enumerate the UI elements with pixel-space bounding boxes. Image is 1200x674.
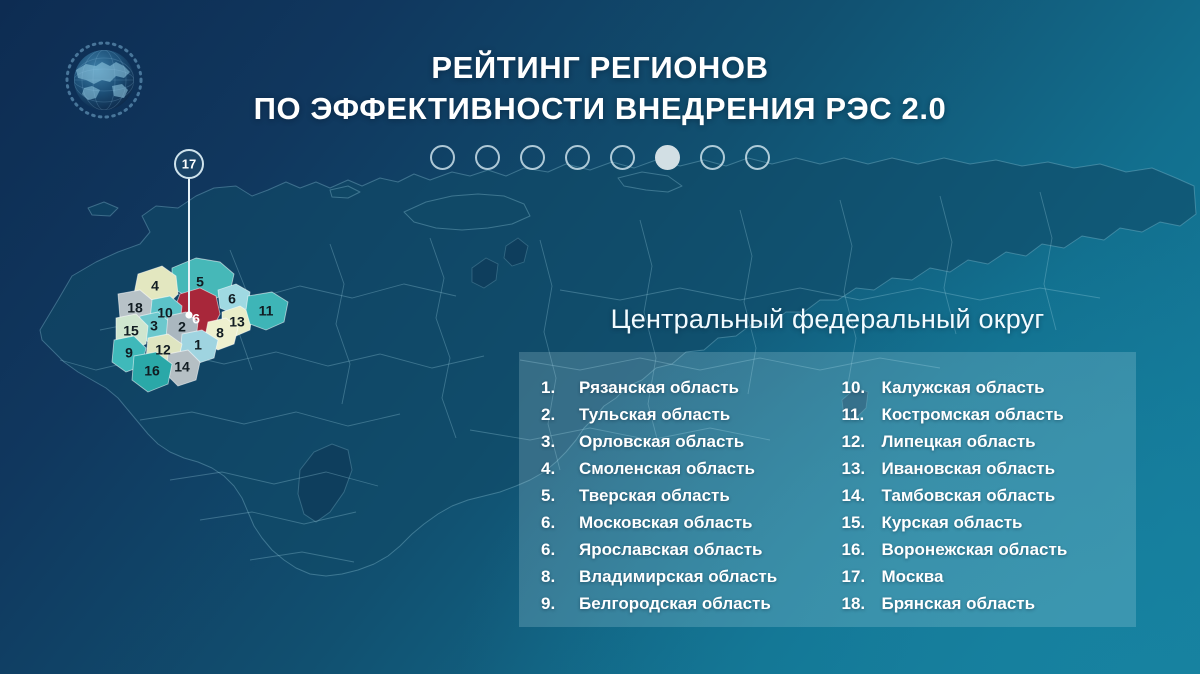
region-shape-6-moscow-oblast <box>174 288 220 336</box>
list-item-name: Брянская область <box>882 590 1036 617</box>
list-item: 11.Костромская область <box>842 401 1137 428</box>
region-label-5: 5 <box>196 274 204 290</box>
list-item-number: 12. <box>842 428 882 455</box>
region-label-3: 3 <box>150 318 158 334</box>
list-item-name: Калужская область <box>882 374 1045 401</box>
list-item-number: 10. <box>842 374 882 401</box>
list-item: 5.Тверская область <box>541 482 828 509</box>
region-label-11: 11 <box>259 303 274 319</box>
list-item-name: Костромская область <box>882 401 1064 428</box>
region-label-14: 14 <box>174 359 190 375</box>
list-item: 2.Тульская область <box>541 401 828 428</box>
region-shape-1 <box>180 330 218 364</box>
list-item-number: 8. <box>541 563 579 590</box>
region-label-4: 4 <box>151 278 159 294</box>
region-shape-10 <box>150 296 182 330</box>
list-item: 18.Брянская область <box>842 590 1137 617</box>
region-shape-12 <box>146 334 182 368</box>
list-item-number: 6. <box>541 509 579 536</box>
list-item-number: 1. <box>541 374 579 401</box>
list-item: 8.Владимирская область <box>541 563 828 590</box>
regions-list-column-left: 1.Рязанская область2.Тульская область3.О… <box>519 374 828 627</box>
page-title-line-2: ПО ЭФФЕКТИВНОСТИ ВНЕДРЕНИЯ РЭС 2.0 <box>0 89 1200 130</box>
region-label-16: 16 <box>144 363 160 379</box>
pager-dot-2[interactable] <box>475 145 500 170</box>
pager-dot-7[interactable] <box>700 145 725 170</box>
pager-dot-3[interactable] <box>520 145 545 170</box>
slide-pager[interactable] <box>0 145 1200 170</box>
region-shape-2 <box>166 312 198 346</box>
list-item: 6.Московская область <box>541 509 828 536</box>
region-shape-16 <box>132 352 172 392</box>
okrug-title: Центральный федеральный округ <box>519 304 1136 335</box>
region-shape-3 <box>138 312 170 344</box>
region-label-1: 1 <box>194 337 202 353</box>
region-shape-6-yaroslavl <box>218 284 250 314</box>
list-item: 15.Курская область <box>842 509 1137 536</box>
list-item-number: 2. <box>541 401 579 428</box>
region-label-8: 8 <box>216 325 224 341</box>
pager-dot-6[interactable] <box>655 145 680 170</box>
list-item-number: 9. <box>541 590 579 617</box>
list-item: 13.Ивановская область <box>842 455 1137 482</box>
list-item: 3.Орловская область <box>541 428 828 455</box>
list-item: 4.Смоленская область <box>541 455 828 482</box>
pager-dot-8[interactable] <box>745 145 770 170</box>
pager-dot-1[interactable] <box>430 145 455 170</box>
caspian-sea <box>298 444 352 522</box>
list-item-name: Московская область <box>579 509 752 536</box>
list-item-name: Смоленская область <box>579 455 755 482</box>
cfo-region-numbers: 5 4 6 6 13 11 8 10 18 3 2 1 15 12 9 14 1… <box>123 274 273 379</box>
list-item-name: Орловская область <box>579 428 744 455</box>
list-item-name: Тамбовская область <box>882 482 1056 509</box>
region-label-15: 15 <box>123 323 139 339</box>
page-title-line-1: РЕЙТИНГ РЕГИОНОВ <box>0 48 1200 89</box>
list-item-name: Ярославская область <box>579 536 763 563</box>
list-item-number: 4. <box>541 455 579 482</box>
list-item-number: 5. <box>541 482 579 509</box>
pager-dot-5[interactable] <box>610 145 635 170</box>
list-item-name: Москва <box>882 563 944 590</box>
regions-list-column-right: 10.Калужская область11.Костромская облас… <box>828 374 1137 627</box>
region-label-12: 12 <box>155 342 171 358</box>
lake-onega <box>504 238 528 266</box>
list-item-name: Рязанская область <box>579 374 739 401</box>
region-shape-13 <box>222 306 252 336</box>
island-north-1 <box>330 186 360 198</box>
list-item: 16.Воронежская область <box>842 536 1137 563</box>
list-item-number: 6. <box>541 536 579 563</box>
cfo-shapes <box>112 258 288 392</box>
moscow-callout[interactable]: 17 <box>175 150 203 319</box>
region-shape-14 <box>166 350 200 386</box>
callout-anchor-dot <box>185 311 192 318</box>
list-item-number: 13. <box>842 455 882 482</box>
list-item-name: Липецкая область <box>882 428 1036 455</box>
list-item-number: 15. <box>842 509 882 536</box>
list-item-name: Тверская область <box>579 482 730 509</box>
region-shape-15 <box>116 314 148 350</box>
list-item-name: Курская область <box>882 509 1023 536</box>
novaya-zemlya <box>618 172 682 192</box>
list-item-number: 14. <box>842 482 882 509</box>
region-shape-5 <box>172 258 234 300</box>
page-title: РЕЙТИНГ РЕГИОНОВ ПО ЭФФЕКТИВНОСТИ ВНЕДРЕ… <box>0 48 1200 130</box>
slide-root: РЕЙТИНГ РЕГИОНОВ ПО ЭФФЕКТИВНОСТИ ВНЕДРЕ… <box>0 0 1200 674</box>
region-shape-18 <box>118 290 152 326</box>
region-label-13: 13 <box>229 314 245 330</box>
region-shape-8 <box>204 318 238 350</box>
list-item: 12.Липецкая область <box>842 428 1137 455</box>
list-item: 1.Рязанская область <box>541 374 828 401</box>
region-label-6-moscow-oblast: 6 <box>192 311 200 327</box>
kola-peninsula <box>404 194 530 230</box>
region-label-6-yaroslavl: 6 <box>228 291 236 307</box>
list-item-name: Тульская область <box>579 401 730 428</box>
list-item-name: Владимирская область <box>579 563 777 590</box>
list-item: 14.Тамбовская область <box>842 482 1137 509</box>
region-shape-4 <box>134 266 178 306</box>
list-item-name: Воронежская область <box>882 536 1068 563</box>
region-label-9: 9 <box>125 345 133 361</box>
list-item-number: 17. <box>842 563 882 590</box>
lake-ladoga <box>472 258 498 288</box>
list-item: 17.Москва <box>842 563 1137 590</box>
list-item-number: 16. <box>842 536 882 563</box>
region-label-2: 2 <box>178 319 186 335</box>
list-item: 9.Белгородская область <box>541 590 828 617</box>
list-item: 6.Ярославская область <box>541 536 828 563</box>
list-item-name: Белгородская область <box>579 590 771 617</box>
list-item-number: 11. <box>842 401 882 428</box>
regions-list-panel: 1.Рязанская область2.Тульская область3.О… <box>519 352 1136 627</box>
region-shape-11 <box>246 292 288 330</box>
list-item-number: 3. <box>541 428 579 455</box>
list-item-name: Ивановская область <box>882 455 1056 482</box>
pager-dot-4[interactable] <box>565 145 590 170</box>
island-north-2 <box>88 202 118 216</box>
region-shape-9 <box>112 336 146 372</box>
region-label-18: 18 <box>127 300 143 316</box>
list-item-number: 18. <box>842 590 882 617</box>
region-label-10: 10 <box>157 305 173 321</box>
list-item: 10.Калужская область <box>842 374 1137 401</box>
